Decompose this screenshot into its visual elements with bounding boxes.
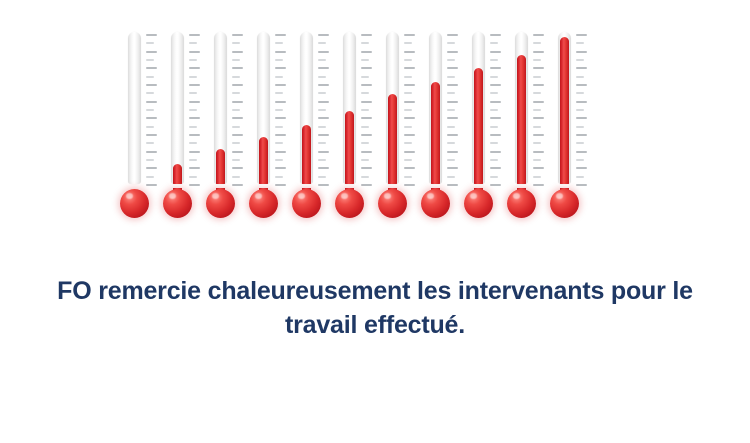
scale-tick <box>490 34 501 36</box>
scale-tick <box>189 59 197 61</box>
scale-tick <box>404 184 415 186</box>
scale-tick <box>189 126 197 128</box>
scale-tick <box>361 176 369 178</box>
scale-tick <box>146 92 154 94</box>
scale-tick <box>447 101 458 103</box>
scale-tick <box>361 42 369 44</box>
scale-tick <box>490 101 501 103</box>
scale-tick <box>146 134 157 136</box>
scale-tick <box>576 34 587 36</box>
scale-tick <box>146 151 157 153</box>
thermometer-scale <box>318 34 331 184</box>
scale-tick <box>576 159 584 161</box>
scale-tick <box>490 176 498 178</box>
thermometer-fill <box>560 37 569 184</box>
scale-tick <box>576 167 587 169</box>
scale-tick <box>576 134 587 136</box>
scale-tick <box>404 76 412 78</box>
scale-tick <box>404 151 415 153</box>
scale-tick <box>576 126 584 128</box>
scale-tick <box>318 67 329 69</box>
scale-tick <box>404 51 415 53</box>
scale-tick <box>447 92 455 94</box>
thermometer-bulb <box>550 189 579 218</box>
scale-tick <box>232 159 240 161</box>
scale-tick <box>576 117 587 119</box>
thermometer-tube <box>171 32 184 184</box>
scale-tick <box>490 134 501 136</box>
thermometer-scale <box>361 34 374 184</box>
scale-tick <box>490 184 501 186</box>
scale-tick <box>576 142 584 144</box>
scale-tick <box>533 134 544 136</box>
thermometer-scale <box>576 34 589 184</box>
scale-tick <box>404 101 415 103</box>
scale-tick <box>490 117 501 119</box>
thermometer-bulb <box>206 189 235 218</box>
scale-tick <box>361 134 372 136</box>
scale-tick <box>533 109 541 111</box>
scale-tick <box>533 84 544 86</box>
scale-tick <box>189 167 200 169</box>
scale-tick <box>490 42 498 44</box>
scale-tick <box>318 92 326 94</box>
scale-tick <box>189 84 200 86</box>
scale-tick <box>533 176 541 178</box>
scale-tick <box>232 67 243 69</box>
scale-tick <box>189 42 197 44</box>
scale-tick <box>232 142 240 144</box>
scale-tick <box>189 109 197 111</box>
scale-tick <box>189 67 200 69</box>
scale-tick <box>490 84 501 86</box>
scale-tick <box>275 109 283 111</box>
scale-tick <box>447 76 455 78</box>
thermometer-tube <box>386 32 399 184</box>
scale-tick <box>232 184 243 186</box>
thermometer-tube <box>128 32 141 184</box>
scale-tick <box>404 159 412 161</box>
scale-tick <box>361 151 372 153</box>
thermometer-fill <box>517 55 526 184</box>
scale-tick <box>404 117 415 119</box>
scale-tick <box>361 101 372 103</box>
scale-tick <box>318 109 326 111</box>
scale-tick <box>533 51 544 53</box>
scale-tick <box>146 184 157 186</box>
scale-tick <box>275 151 286 153</box>
scale-tick <box>361 117 372 119</box>
scale-tick <box>490 159 498 161</box>
scale-tick <box>576 59 584 61</box>
thermometer-bulb <box>335 189 364 218</box>
thermometer-fill <box>173 164 182 184</box>
thermometer-tube <box>300 32 313 184</box>
scale-tick <box>576 151 587 153</box>
scale-tick <box>361 51 372 53</box>
scale-tick <box>447 184 458 186</box>
scale-tick <box>232 109 240 111</box>
scale-tick <box>576 67 587 69</box>
thermometer-11 <box>550 28 590 218</box>
thermometer-scale <box>232 34 245 184</box>
thermometer-fill <box>302 125 311 184</box>
scale-tick <box>189 76 197 78</box>
scale-tick <box>361 109 369 111</box>
scale-tick <box>404 59 412 61</box>
scale-tick <box>189 117 200 119</box>
scale-tick <box>146 159 154 161</box>
scale-tick <box>447 142 455 144</box>
scale-tick <box>318 159 326 161</box>
scale-tick <box>189 151 200 153</box>
thermometer-scale <box>275 34 288 184</box>
scale-tick <box>146 67 157 69</box>
scale-tick <box>189 34 200 36</box>
scale-tick <box>404 34 415 36</box>
scale-tick <box>318 134 329 136</box>
scale-tick <box>447 67 458 69</box>
scale-tick <box>533 117 544 119</box>
scale-tick <box>490 151 501 153</box>
thermometer-fill <box>431 82 440 184</box>
scale-tick <box>490 67 501 69</box>
thermometer-scale <box>189 34 202 184</box>
scale-tick <box>318 126 326 128</box>
scale-tick <box>232 176 240 178</box>
scale-tick <box>533 126 541 128</box>
scale-tick <box>189 134 200 136</box>
scale-tick <box>275 101 286 103</box>
thermometer-bulb <box>249 189 278 218</box>
scale-tick <box>146 117 157 119</box>
scale-tick <box>490 76 498 78</box>
scale-tick <box>318 101 329 103</box>
thermometer-tube <box>515 32 528 184</box>
scale-tick <box>275 134 286 136</box>
scale-tick <box>232 51 243 53</box>
scale-tick <box>318 176 326 178</box>
scale-tick <box>447 117 458 119</box>
scale-tick <box>576 76 584 78</box>
scale-tick <box>361 142 369 144</box>
thermometer-fill <box>216 149 225 184</box>
scale-tick <box>361 59 369 61</box>
thermometer-tube <box>214 32 227 184</box>
scale-tick <box>318 59 326 61</box>
scale-tick <box>361 184 372 186</box>
scale-tick <box>490 126 498 128</box>
thermometer-bulb <box>464 189 493 218</box>
scale-tick <box>490 167 501 169</box>
scale-tick <box>318 76 326 78</box>
scale-tick <box>146 101 157 103</box>
scale-tick <box>361 92 369 94</box>
thermometer-3 <box>206 28 246 218</box>
scale-tick <box>447 34 458 36</box>
thermometer-fill <box>345 111 354 184</box>
scale-tick <box>447 134 458 136</box>
scale-tick <box>576 101 587 103</box>
scale-tick <box>533 34 544 36</box>
scale-tick <box>275 92 283 94</box>
scale-tick <box>275 126 283 128</box>
scale-tick <box>275 59 283 61</box>
scale-tick <box>447 159 455 161</box>
scale-tick <box>146 51 157 53</box>
scale-tick <box>533 92 541 94</box>
scale-tick <box>447 176 455 178</box>
thermometer-1 <box>120 28 160 218</box>
scale-tick <box>232 167 243 169</box>
scale-tick <box>189 142 197 144</box>
thermometer-bulb <box>421 189 450 218</box>
slide-canvas: FO remercie chaleureusement les interven… <box>0 0 750 443</box>
scale-tick <box>533 167 544 169</box>
scale-tick <box>232 42 240 44</box>
scale-tick <box>404 176 412 178</box>
scale-tick <box>189 159 197 161</box>
scale-tick <box>361 84 372 86</box>
scale-tick <box>576 109 584 111</box>
scale-tick <box>533 76 541 78</box>
scale-tick <box>447 59 455 61</box>
thermometer-bulb <box>378 189 407 218</box>
scale-tick <box>361 76 369 78</box>
thermometer-tube <box>472 32 485 184</box>
scale-tick <box>232 134 243 136</box>
scale-tick <box>490 51 501 53</box>
scale-tick <box>146 84 157 86</box>
scale-tick <box>146 42 154 44</box>
scale-tick <box>404 92 412 94</box>
thermometer-8 <box>421 28 461 218</box>
scale-tick <box>146 109 154 111</box>
scale-tick <box>232 84 243 86</box>
thermometer-scale <box>146 34 159 184</box>
scale-tick <box>318 167 329 169</box>
thermometer-7 <box>378 28 418 218</box>
thermometer-4 <box>249 28 289 218</box>
thermometer-9 <box>464 28 504 218</box>
scale-tick <box>232 92 240 94</box>
scale-tick <box>189 184 200 186</box>
scale-tick <box>275 117 286 119</box>
thermometer-fill <box>474 68 483 184</box>
scale-tick <box>189 101 200 103</box>
scale-tick <box>490 59 498 61</box>
scale-tick <box>361 159 369 161</box>
thermometer-scale <box>490 34 503 184</box>
scale-tick <box>318 184 329 186</box>
scale-tick <box>275 184 286 186</box>
scale-tick <box>404 84 415 86</box>
scale-tick <box>447 151 458 153</box>
thermometer-tube <box>257 32 270 184</box>
scale-tick <box>533 184 544 186</box>
scale-tick <box>576 84 587 86</box>
scale-tick <box>490 109 498 111</box>
thermometer-scale <box>533 34 546 184</box>
scale-tick <box>275 51 286 53</box>
scale-tick <box>232 126 240 128</box>
scale-tick <box>189 51 200 53</box>
scale-tick <box>232 34 243 36</box>
scale-tick <box>447 109 455 111</box>
scale-tick <box>275 76 283 78</box>
scale-tick <box>404 67 415 69</box>
scale-tick <box>361 167 372 169</box>
scale-tick <box>275 67 286 69</box>
scale-tick <box>533 151 544 153</box>
scale-tick <box>146 59 154 61</box>
scale-tick <box>232 117 243 119</box>
caption-text: FO remercie chaleureusement les interven… <box>18 275 732 342</box>
scale-tick <box>576 42 584 44</box>
scale-tick <box>146 167 157 169</box>
scale-tick <box>533 59 541 61</box>
scale-tick <box>275 142 283 144</box>
scale-tick <box>275 167 286 169</box>
scale-tick <box>146 176 154 178</box>
thermometer-bulb <box>507 189 536 218</box>
scale-tick <box>146 34 157 36</box>
scale-tick <box>404 126 412 128</box>
thermometer-bulb <box>292 189 321 218</box>
scale-tick <box>447 126 455 128</box>
thermometer-tube <box>429 32 442 184</box>
scale-tick <box>361 67 372 69</box>
scale-tick <box>189 176 197 178</box>
scale-tick <box>447 51 458 53</box>
scale-tick <box>232 101 243 103</box>
scale-tick <box>447 84 458 86</box>
scale-tick <box>318 42 326 44</box>
thermometer-2 <box>163 28 203 218</box>
scale-tick <box>404 42 412 44</box>
scale-tick <box>232 59 240 61</box>
scale-tick <box>404 167 415 169</box>
scale-tick <box>490 92 498 94</box>
scale-tick <box>404 109 412 111</box>
scale-tick <box>318 34 329 36</box>
scale-tick <box>318 84 329 86</box>
scale-tick <box>146 142 154 144</box>
scale-tick <box>447 42 455 44</box>
scale-tick <box>533 159 541 161</box>
scale-tick <box>318 142 326 144</box>
scale-tick <box>576 92 584 94</box>
scale-tick <box>404 134 415 136</box>
thermometer-fill <box>388 94 397 184</box>
scale-tick <box>232 151 243 153</box>
scale-tick <box>533 42 541 44</box>
scale-tick <box>275 84 286 86</box>
scale-tick <box>318 117 329 119</box>
scale-tick <box>146 76 154 78</box>
scale-tick <box>576 176 584 178</box>
thermometer-6 <box>335 28 375 218</box>
thermometer-chart <box>120 28 610 218</box>
scale-tick <box>447 167 458 169</box>
thermometer-bulb <box>120 189 149 218</box>
scale-tick <box>490 142 498 144</box>
scale-tick <box>275 176 283 178</box>
scale-tick <box>361 34 372 36</box>
scale-tick <box>146 126 154 128</box>
scale-tick <box>576 184 587 186</box>
scale-tick <box>232 76 240 78</box>
scale-tick <box>576 51 587 53</box>
thermometer-tube <box>558 32 571 184</box>
scale-tick <box>318 151 329 153</box>
thermometer-5 <box>292 28 332 218</box>
scale-tick <box>275 34 286 36</box>
thermometer-bulb <box>163 189 192 218</box>
scale-tick <box>318 51 329 53</box>
scale-tick <box>533 101 544 103</box>
thermometer-fill <box>259 137 268 184</box>
scale-tick <box>533 142 541 144</box>
thermometer-10 <box>507 28 547 218</box>
scale-tick <box>275 42 283 44</box>
scale-tick <box>275 159 283 161</box>
thermometer-scale <box>447 34 460 184</box>
scale-tick <box>189 92 197 94</box>
thermometer-scale <box>404 34 417 184</box>
scale-tick <box>404 142 412 144</box>
thermometer-tube <box>343 32 356 184</box>
scale-tick <box>361 126 369 128</box>
scale-tick <box>533 67 544 69</box>
